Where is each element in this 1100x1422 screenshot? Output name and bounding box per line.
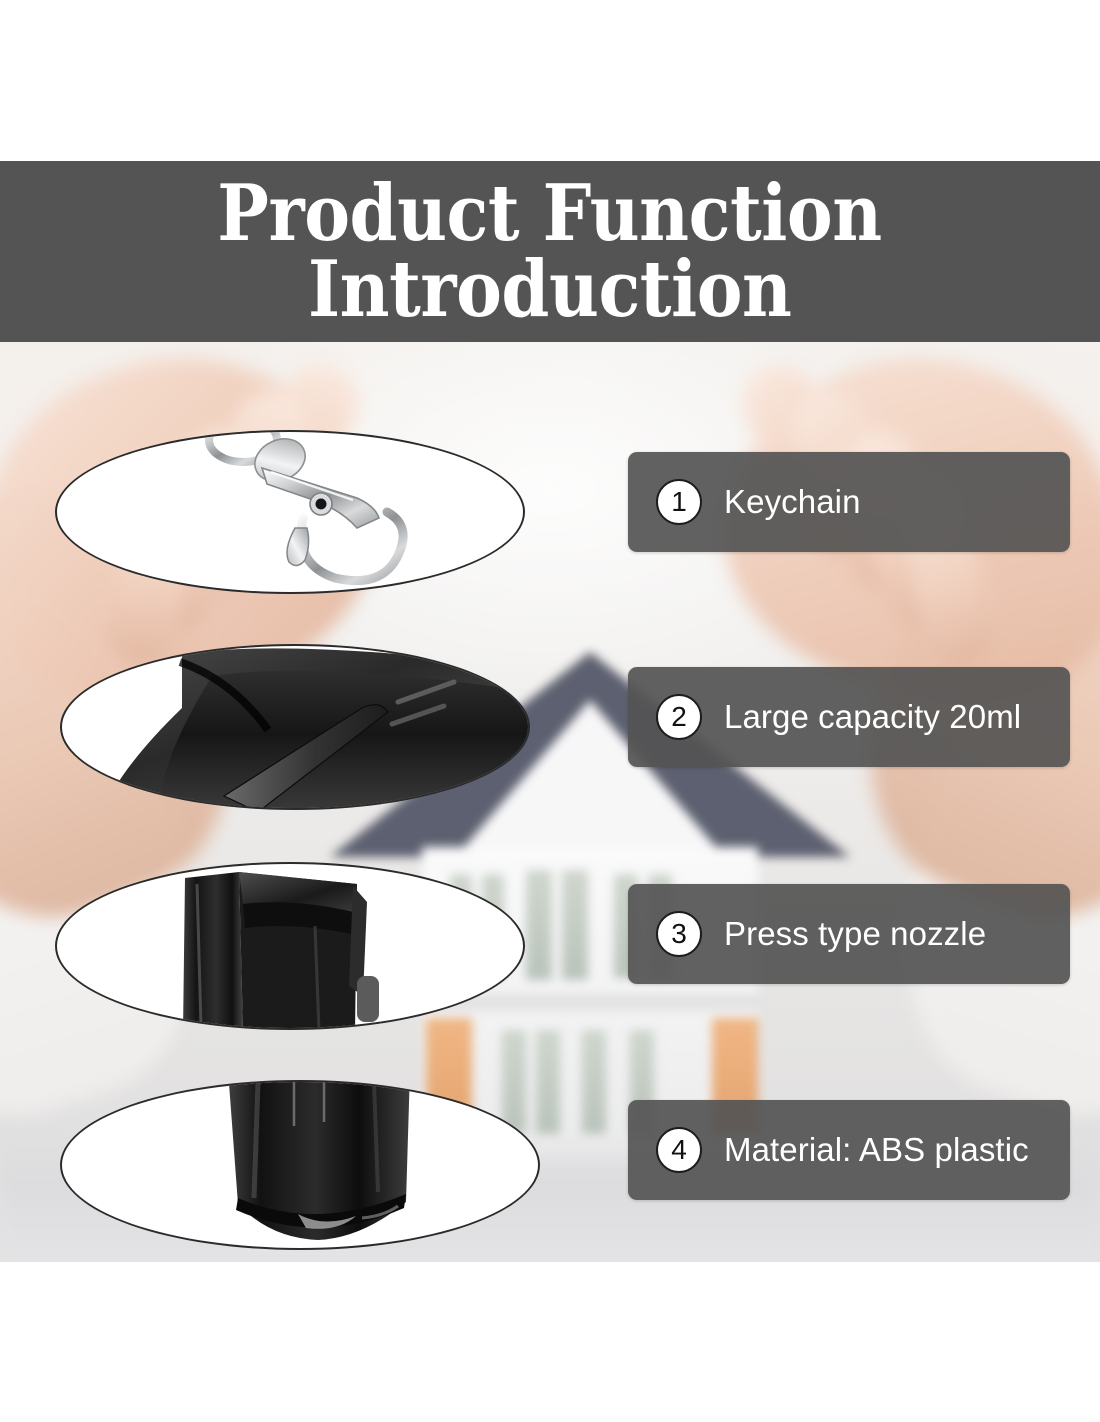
header-banner: Product Function Introduction (0, 161, 1100, 342)
feature-label-text-3: Press type nozzle (724, 915, 986, 953)
page-title-line-2: Introduction (308, 252, 792, 328)
feature-label-text-2: Large capacity 20ml (724, 698, 1021, 736)
feature-number-badge-1: 1 (656, 479, 702, 525)
feature-number-badge-3: 3 (656, 911, 702, 957)
feature-label-3[interactable]: 3 Press type nozzle (628, 884, 1070, 984)
feature-number-badge-4: 4 (656, 1127, 702, 1173)
page-title-line-1: Product Function (218, 176, 882, 252)
feature-image-2-bottle-body (60, 644, 530, 810)
feature-label-2[interactable]: 2 Large capacity 20ml (628, 667, 1070, 767)
keychain-clasp-icon (57, 432, 525, 594)
feature-image-1-keychain (55, 430, 525, 594)
feature-label-1[interactable]: 1 Keychain (628, 452, 1070, 552)
feature-image-3-press-nozzle (55, 862, 525, 1030)
product-infographic-poster: Product Function Introduction (0, 0, 1100, 1422)
feature-image-4-abs-base (60, 1080, 540, 1250)
feature-label-text-1: Keychain (724, 483, 861, 521)
press-nozzle-icon (57, 864, 525, 1030)
bottle-body-icon (62, 646, 530, 810)
abs-plastic-base-icon (62, 1082, 540, 1250)
feature-label-4[interactable]: 4 Material: ABS plastic (628, 1100, 1070, 1200)
feature-number-badge-2: 2 (656, 694, 702, 740)
feature-label-text-4: Material: ABS plastic (724, 1131, 1029, 1169)
